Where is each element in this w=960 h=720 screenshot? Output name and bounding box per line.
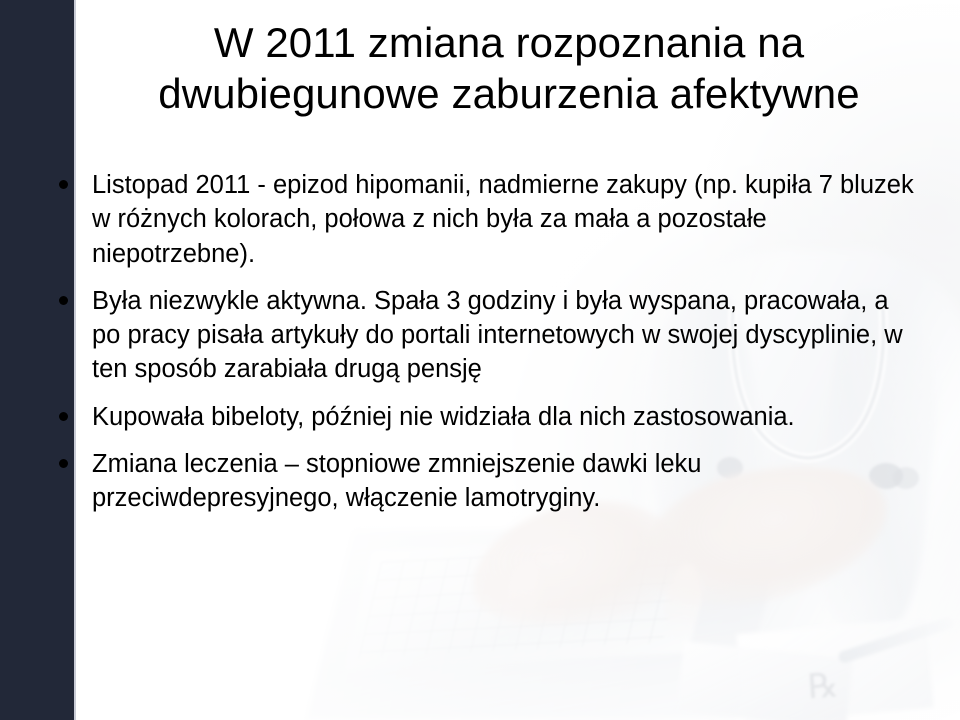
bullet-text: Była niezwykle aktywna. Spała 3 godziny … [92,284,924,387]
list-item: Zmiana leczenia – stopniowe zmniejszenie… [52,447,924,516]
finger-right [660,562,705,640]
paper-sheet-2 [677,641,853,720]
pen-shape [837,616,955,664]
bullet-dot-icon [59,412,68,421]
bullet-dot-icon [59,296,68,305]
prescription-icon: ℞ [807,667,850,708]
list-item: Listopad 2011 - epizod hipomanii, nadmie… [52,168,924,271]
paper-sheet-1 [736,618,933,720]
bullet-dot-icon [59,180,68,189]
bullet-list: Listopad 2011 - epizod hipomanii, nadmie… [52,168,924,516]
bullet-dot-icon [59,459,68,468]
keyboard-keys [359,546,686,658]
laptop-body [306,530,783,720]
bullet-text: Listopad 2011 - epizod hipomanii, nadmie… [92,168,924,271]
slide-title: W 2011 zmiana rozpoznania na dwubiegunow… [76,18,942,120]
bullet-text: Zmiana leczenia – stopniowe zmniejszenie… [92,447,924,516]
bullet-text: Kupowała bibeloty, później nie widziała … [92,400,924,434]
slide: ℞ W 2011 zmiana rozpoznania na dwubiegun… [0,0,960,720]
list-item: Kupowała bibeloty, później nie widziała … [52,400,924,434]
laptop-deck [344,533,717,671]
list-item: Była niezwykle aktywna. Spała 3 godziny … [52,284,924,387]
finger-left [496,559,548,636]
